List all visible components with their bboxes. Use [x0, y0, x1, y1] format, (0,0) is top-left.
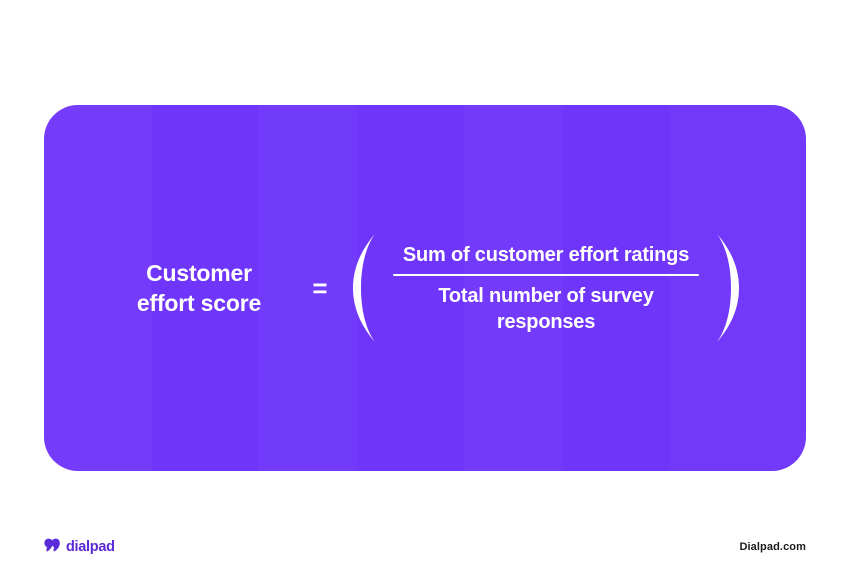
fraction-numerator: Sum of customer effort ratings	[386, 242, 706, 274]
fraction: Sum of customer effort ratings Total num…	[382, 242, 710, 335]
formula-card: Customer effort score = Sum of customer …	[44, 105, 806, 471]
open-parenthesis-icon	[348, 232, 382, 344]
metric-name-line-2: effort score	[106, 288, 292, 318]
metric-name-line-1: Customer	[106, 258, 292, 288]
dialpad-wordmark: dialpad	[66, 539, 115, 555]
site-url-label: Dialpad.com	[739, 541, 806, 553]
equation-row: Customer effort score = Sum of customer …	[44, 232, 806, 344]
infographic-canvas: Customer effort score = Sum of customer …	[0, 0, 850, 567]
dialpad-logo[interactable]: dialpad	[44, 538, 115, 557]
dialpad-mark-icon	[44, 538, 61, 557]
fraction-denominator-line-1: Total number of survey	[386, 283, 706, 309]
fraction-denominator-line-2: responses	[386, 309, 706, 335]
close-parenthesis-icon	[710, 232, 744, 344]
footer: dialpad Dialpad.com	[44, 536, 806, 558]
fraction-group: Sum of customer effort ratings Total num…	[348, 232, 744, 344]
metric-name-label: Customer effort score	[106, 258, 292, 319]
fraction-denominator: Total number of survey responses	[386, 276, 706, 335]
equals-sign: =	[292, 275, 348, 301]
